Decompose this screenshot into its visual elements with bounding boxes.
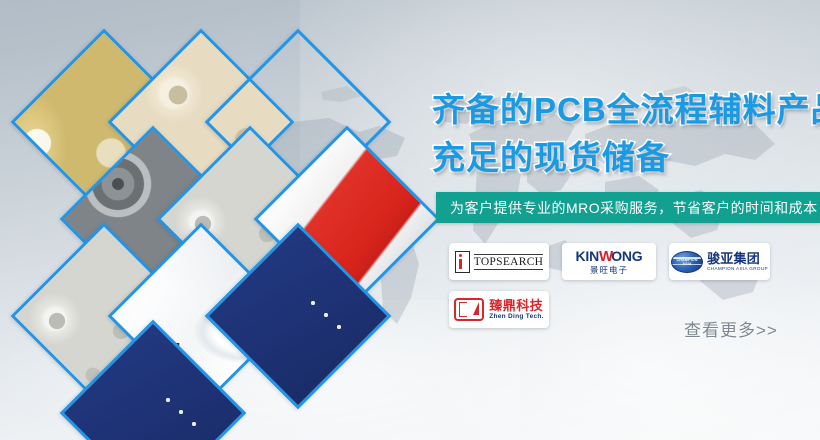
logo-champion-asia[interactable]: CHAMPION ASIA 骏亚集团 CHAMPION ASIA GROUP xyxy=(669,243,770,280)
logo-zhen-ding[interactable]: 臻鼎科技 Zhen Ding Tech. xyxy=(449,291,549,328)
zhen-ding-wordmark-en: Zhen Ding Tech. xyxy=(489,314,544,321)
kinwong-wordmark: KINWONG xyxy=(576,249,643,264)
champion-asia-wordmark-en: CHAMPION ASIA GROUP xyxy=(707,267,768,272)
promo-banner: 齐备的PCB全流程辅料产品、 充足的现货储备 为客户提供专业的MRO采购服务，节… xyxy=(0,0,820,440)
product-diamond-collage xyxy=(0,22,422,440)
banner-headline: 齐备的PCB全流程辅料产品、 充足的现货储备 xyxy=(432,86,820,182)
zhen-ding-mark-icon xyxy=(454,298,484,321)
champion-asia-globe-text: CHAMPION ASIA xyxy=(672,258,702,266)
champion-asia-globe-icon: CHAMPION ASIA xyxy=(671,251,703,273)
banner-subtitle-bar: 为客户提供专业的MRO采购服务，节省客户的时间和成本 xyxy=(436,192,820,223)
headline-line-1: 齐备的PCB全流程辅料产品、 xyxy=(432,91,820,128)
logo-kinwong[interactable]: KINWONG 景旺电子 xyxy=(562,243,656,280)
kinwong-text-tail: ONG xyxy=(611,248,642,264)
kinwong-text-accent: W xyxy=(599,248,611,265)
partner-logo-row-1: TOPSEARCH KINWONG 景旺电子 CHAMPION ASIA 骏亚集… xyxy=(449,243,820,280)
kinwong-wordmark-cn: 景旺电子 xyxy=(576,266,643,275)
champion-asia-wordmark-cn: 骏亚集团 xyxy=(707,252,768,265)
topsearch-wordmark: TOPSEARCH xyxy=(474,254,544,270)
zhen-ding-wordmark-cn: 臻鼎科技 xyxy=(489,299,544,312)
view-more-link[interactable]: 查看更多>> xyxy=(684,316,778,341)
kinwong-text-head: KIN xyxy=(576,248,600,264)
logo-topsearch[interactable]: TOPSEARCH xyxy=(449,243,549,280)
banner-subtitle-text: 为客户提供专业的MRO采购服务，节省客户的时间和成本 xyxy=(436,198,818,218)
headline-line-2: 充足的现货储备 xyxy=(432,134,820,182)
topsearch-mark-icon xyxy=(455,251,470,273)
